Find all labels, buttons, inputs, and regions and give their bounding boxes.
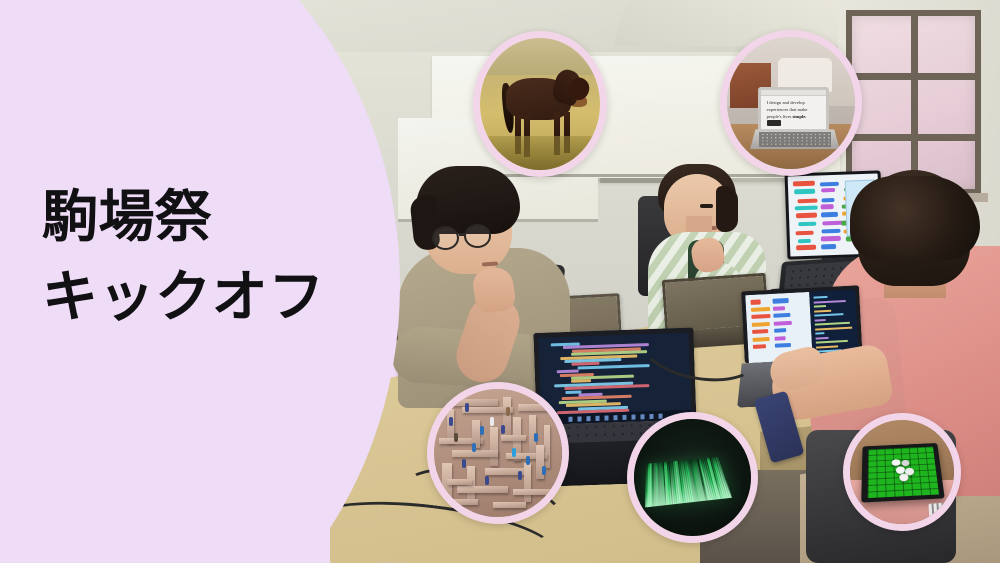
scratch-block xyxy=(821,244,837,249)
block xyxy=(752,329,768,334)
maze-person xyxy=(490,417,494,426)
horse-grass xyxy=(480,136,600,170)
title-line-2: キックオフ xyxy=(42,258,382,338)
othello-board-grid xyxy=(868,447,939,498)
othello-disc-white-2 xyxy=(901,459,910,466)
scratch-block xyxy=(795,205,818,210)
scratch-block xyxy=(822,221,843,226)
slide-canvas: 駒場祭 キックオフ xyxy=(0,0,1000,563)
window xyxy=(846,10,981,195)
code-line xyxy=(815,314,843,317)
maze-wall xyxy=(518,404,554,410)
code-line xyxy=(815,322,849,326)
maze-person xyxy=(512,448,516,457)
scratch-block xyxy=(796,213,817,218)
title-line-1: 駒場祭 xyxy=(42,178,382,258)
scratch-block xyxy=(821,188,835,193)
othello-board-frame xyxy=(862,443,946,503)
scratch-block xyxy=(821,198,835,203)
scratch-block xyxy=(799,221,817,226)
scratch-block xyxy=(821,236,841,241)
block xyxy=(772,298,789,303)
code-line xyxy=(816,345,838,348)
maze-photo-bubble xyxy=(427,382,569,524)
maze-person xyxy=(501,425,505,434)
maze-person xyxy=(506,407,510,416)
block xyxy=(773,321,791,326)
quote-line-3: people's lives xyxy=(767,114,792,119)
maze-person xyxy=(526,456,530,465)
matrix-photo-bubble xyxy=(627,412,758,543)
code-line xyxy=(815,319,826,322)
code-line xyxy=(816,332,825,334)
scratch-block xyxy=(796,245,815,250)
person-center-eye xyxy=(700,204,713,208)
maze-wall xyxy=(490,427,498,465)
code-line xyxy=(814,300,846,304)
maze-wall xyxy=(524,463,532,501)
block xyxy=(775,343,791,348)
code-line xyxy=(815,310,831,313)
maze-person xyxy=(472,443,476,452)
quote-line-1: I design and develop xyxy=(767,100,805,105)
laptop-screen-cta-button xyxy=(767,120,781,125)
code-line xyxy=(816,326,853,330)
maze-wall xyxy=(501,435,527,441)
block xyxy=(773,313,790,318)
maze-wall xyxy=(439,499,477,505)
quote-line-2: experiences that make xyxy=(767,107,808,112)
maze-wall xyxy=(485,468,529,474)
horse-photo xyxy=(480,38,600,170)
block xyxy=(774,329,786,334)
othello-disc-white-1 xyxy=(892,459,901,466)
block xyxy=(751,314,770,319)
laptop-photo-screen: I design and develop experiences that ma… xyxy=(758,87,830,132)
laptop-photo-keyboard xyxy=(750,129,840,149)
scratch-block xyxy=(821,204,834,209)
laptop-photo-bubble: I design and develop experiences that ma… xyxy=(720,30,862,176)
othello-photo-bubble xyxy=(843,413,961,531)
quote-emphasis: simple. xyxy=(792,114,806,119)
block xyxy=(751,300,761,305)
block xyxy=(753,337,770,342)
maze-person xyxy=(542,466,546,475)
maze-person xyxy=(465,403,469,412)
person-right-hair xyxy=(850,176,980,260)
maze-person xyxy=(480,426,484,435)
page-title: 駒場祭 キックオフ xyxy=(42,178,382,337)
person-left-glasses-bridge xyxy=(459,233,466,236)
maze-person xyxy=(518,471,522,480)
maze-wall xyxy=(457,486,508,492)
laptop-screen-quote: I design and develop experiences that ma… xyxy=(767,100,822,120)
maze-person xyxy=(534,433,538,442)
horse-photo-bubble xyxy=(473,31,607,177)
scratch-block xyxy=(798,239,811,244)
maze-wall xyxy=(447,479,473,485)
window-mullion-horizontal-bottom xyxy=(852,134,975,141)
browser-topbar xyxy=(761,90,827,95)
person-left-glasses-left-lens xyxy=(432,226,459,250)
scratch-block xyxy=(795,230,813,235)
maze-wall xyxy=(493,502,526,508)
code-line xyxy=(816,337,828,340)
scratch-block xyxy=(793,181,815,186)
maze-photo xyxy=(434,389,562,517)
person-left-glasses-right-lens xyxy=(464,224,491,248)
window-mullion-vertical xyxy=(911,16,918,189)
maze-wall xyxy=(544,425,550,469)
code-line xyxy=(814,296,828,299)
code-line xyxy=(816,340,847,344)
person-center-hair-side xyxy=(716,186,738,232)
scratch-block xyxy=(822,228,841,233)
scratch-block xyxy=(820,181,839,186)
maze-wall xyxy=(513,489,551,495)
window-mullion-horizontal-top xyxy=(852,73,975,80)
code-line xyxy=(814,305,825,308)
block xyxy=(773,306,785,311)
maze-person xyxy=(462,459,466,468)
matrix-photo xyxy=(634,419,751,536)
scratch-block xyxy=(798,198,818,203)
maze-person xyxy=(454,433,458,442)
scratch-block xyxy=(821,212,839,217)
laptop-photo: I design and develop experiences that ma… xyxy=(727,37,855,169)
maze-person xyxy=(449,417,453,426)
othello-disc-stack xyxy=(928,502,952,520)
block xyxy=(774,336,785,341)
othello-photo xyxy=(850,420,954,524)
block xyxy=(752,322,770,327)
scratch-block xyxy=(794,189,815,194)
maze-person xyxy=(485,476,489,485)
block xyxy=(751,307,770,312)
